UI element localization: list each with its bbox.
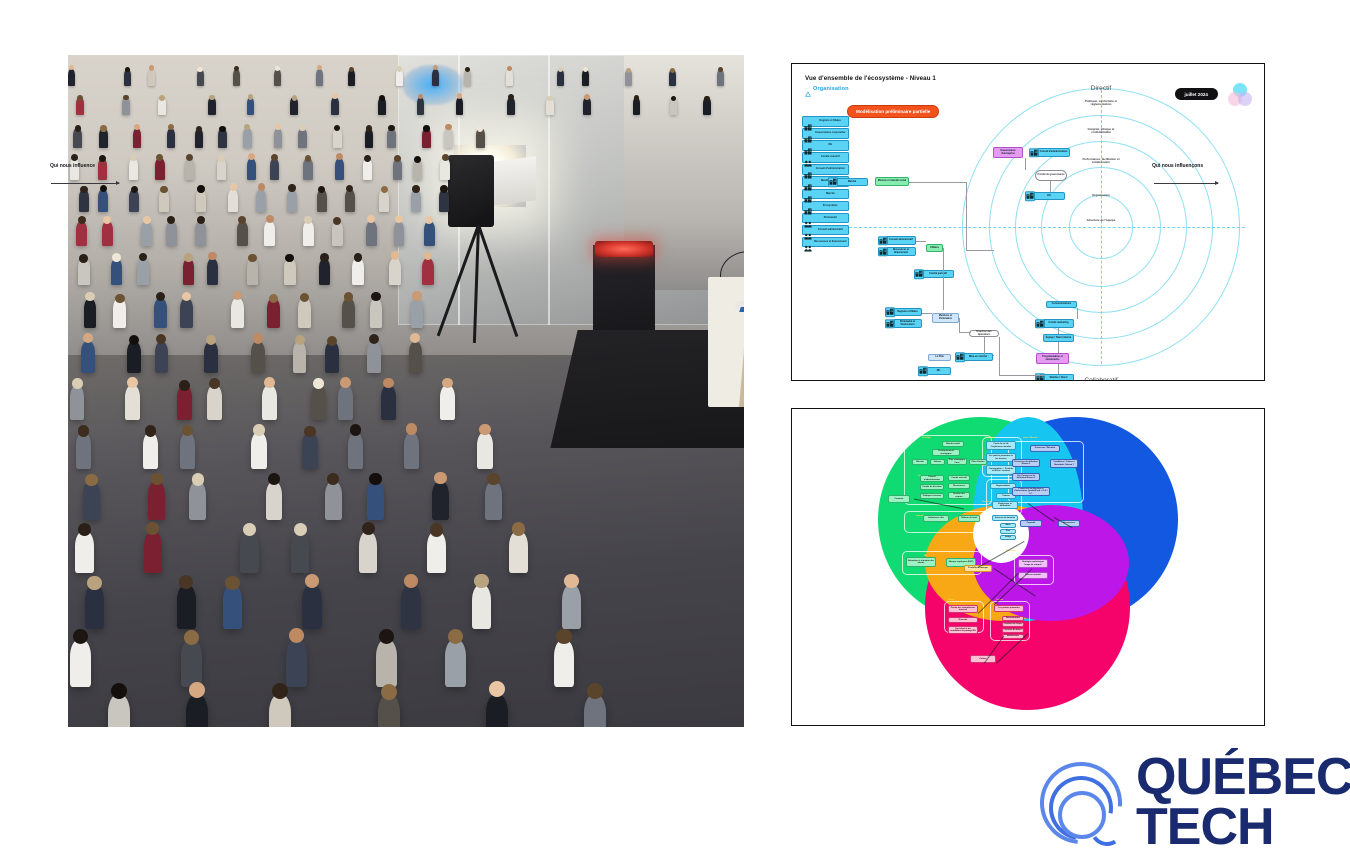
crowd-person-head — [457, 93, 463, 99]
crowd-person — [204, 341, 218, 373]
venn-node-28[interactable]: Processus de définition Niveau 1 — [1012, 459, 1040, 467]
venn-node-13[interactable]: Tableau de bord — [958, 515, 980, 522]
crowd-person-head — [127, 377, 138, 388]
ecosystem-node-label: Membre / Client — [1050, 377, 1068, 380]
venn-diagram: StratégieGouvernanceOpérationsRHProduitS… — [878, 417, 1178, 717]
crowd-person-head — [184, 253, 193, 262]
crowd-person — [228, 189, 238, 212]
connector-17 — [1058, 364, 1059, 374]
venn-node-label: Mise en marché — [1025, 574, 1041, 576]
crowd-person — [207, 385, 222, 419]
connector-0 — [909, 182, 967, 183]
crowd-person — [367, 481, 384, 520]
venn-node-5[interactable]: Plan d'action — [969, 459, 987, 465]
crowd-person-head — [285, 254, 294, 263]
crowd-person-head — [189, 682, 205, 698]
crowd-person — [70, 385, 85, 419]
crowd-person-head — [143, 216, 151, 224]
crowd-person-head — [304, 426, 316, 438]
crowd-person-head — [294, 523, 307, 536]
legend-item-0[interactable]: Registre et filiales — [802, 116, 849, 127]
connector-18 — [999, 337, 1000, 375]
crowd-person — [456, 97, 464, 115]
ecosystem-node-13[interactable]: Direction des Opérations — [969, 330, 999, 337]
crowd-person-head — [394, 155, 401, 162]
legend-item-8[interactable]: Partenariat — [802, 213, 849, 224]
panel-subtitle: Organisation — [813, 86, 849, 92]
crowd-person-head — [258, 183, 265, 190]
legend-item-6[interactable]: Marché — [802, 189, 849, 200]
legend-item-7[interactable]: Écosystème — [802, 201, 849, 212]
crowd-person-head — [626, 68, 631, 73]
crowd-person — [432, 481, 449, 520]
crowd-person — [266, 481, 283, 520]
venn-node-label: Top talent et les conditions de partage … — [950, 628, 976, 633]
crowd-person-head — [289, 628, 304, 643]
ecosystem-node-18[interactable]: Comité marketing — [1043, 319, 1074, 328]
people-icon — [804, 215, 812, 222]
venn-node-40[interactable]: Les parties prenantes — [994, 605, 1024, 612]
horizontal-axis — [834, 227, 1245, 228]
crowd-person — [154, 298, 167, 327]
crowd-person-head — [206, 335, 216, 345]
crowd-person-head — [160, 186, 167, 193]
crowd-person-head — [381, 684, 397, 700]
ecosystem-node-17[interactable]: Communications — [1046, 301, 1077, 308]
crowd-person-head — [115, 294, 124, 303]
crowd-person — [286, 639, 307, 687]
crowd-person-head — [391, 251, 400, 260]
crowd-person — [376, 639, 397, 687]
crowd-person — [274, 69, 281, 86]
crowd-person-head — [271, 154, 278, 161]
venn-node-label: Canaux — [1002, 495, 1010, 497]
crowd-person — [208, 97, 216, 115]
venn-node-7[interactable]: Comité exécutif — [948, 475, 970, 481]
venn-node-23[interactable]: Sources de données — [992, 515, 1018, 521]
venn-node-label: Comité de direction — [922, 486, 941, 488]
crowd-person — [409, 341, 423, 373]
camera-reflector — [492, 156, 536, 205]
crowd-person-head — [507, 66, 512, 71]
venn-node-43[interactable]: Gestion du talent — [1002, 628, 1024, 633]
crowd-person-head — [197, 216, 205, 224]
crowd-person — [427, 531, 445, 573]
video-camera — [448, 155, 494, 227]
ecosystem-node-7[interactable]: Ressources et financement — [886, 247, 916, 256]
crowd-person — [444, 128, 453, 148]
ecosystem-node-2[interactable]: Gouvernance d'entreprise — [993, 147, 1023, 158]
crowd-person-head — [547, 96, 553, 102]
venn-node-32[interactable]: Capacité — [1020, 520, 1042, 527]
ecosystem-node-15[interactable]: Mise en marché — [963, 353, 993, 361]
ecosystem-node-label: Mise en marché — [969, 356, 987, 359]
crowd-person — [472, 584, 492, 629]
crowd-person — [445, 639, 466, 687]
legend-item-4[interactable]: Conseil d'administration — [802, 164, 849, 175]
crowd-person — [137, 258, 149, 285]
crowd-person — [143, 432, 159, 469]
ecosystem-node-label: Conseil administratif — [889, 239, 913, 242]
connector-4 — [1050, 181, 1051, 192]
crowd-person — [335, 158, 344, 180]
crowd-person — [127, 341, 141, 373]
venn-node-26[interactable]: Usage — [1000, 535, 1016, 540]
building-icon — [828, 177, 838, 187]
crowd-person — [133, 128, 142, 148]
crowd-person-head — [197, 185, 204, 192]
crowd-person-head — [73, 629, 88, 644]
venn-node-label: Expérience et tarification — [994, 503, 1016, 508]
people-icon — [804, 227, 812, 234]
crowd-person-head — [474, 574, 488, 588]
crowd-person-head — [186, 154, 193, 161]
camera-tripod — [438, 225, 518, 345]
connector-8 — [938, 274, 939, 275]
venn-node-10[interactable]: Politiques internes — [920, 493, 944, 499]
crowd-person — [68, 69, 75, 86]
crowd-person — [389, 258, 401, 285]
crowd-person — [422, 258, 434, 285]
venn-node-label: Conseil d'administration — [922, 476, 942, 481]
venn-node-label: Cartographie — Produits et offres / serv… — [988, 468, 1014, 473]
crowd-person — [85, 584, 105, 629]
venn-node-3[interactable]: Valeurs — [930, 459, 945, 465]
legend-item-1[interactable]: Gouvernance corporative — [802, 128, 849, 139]
crowd-person-head — [369, 473, 381, 485]
crowd-person — [223, 584, 243, 629]
crowd-person — [342, 298, 355, 327]
ecosystem-node-3[interactable]: Conseil d'administration — [1037, 148, 1070, 157]
ring-label-3: Organisation — [1079, 194, 1123, 197]
connector-6 — [943, 248, 944, 274]
crowd-person — [251, 432, 267, 469]
crowd-person — [256, 189, 266, 212]
crowd-person-head — [350, 424, 362, 436]
crowd-person — [311, 385, 326, 419]
legend-item-label: Conseil d'administration — [814, 168, 848, 171]
crowd-person — [144, 531, 162, 573]
crowd-person-head — [305, 155, 312, 162]
venn-node-label: Rémunération — [1006, 617, 1020, 619]
venn-node-27[interactable]: Processus / Résultat — [1030, 445, 1060, 452]
crowd-person — [440, 385, 455, 419]
venn-node-label: Portée des compétences internes — [950, 607, 976, 612]
crowd-person-head — [253, 424, 265, 436]
building-icon — [804, 142, 812, 149]
crowd-person — [424, 221, 435, 246]
venn-node-24[interactable]: Base — [1000, 523, 1016, 528]
crowd-person — [166, 221, 177, 246]
crowd-person-head — [412, 185, 419, 192]
crowd-person — [75, 531, 93, 573]
crowd-person-head — [87, 576, 101, 590]
venn-node-9[interactable]: Ressources — [948, 483, 970, 489]
venn-panel: StratégieGouvernanceOpérationsRHProduitS… — [791, 408, 1265, 726]
crowd-person-head — [556, 629, 571, 644]
crowd-person-head — [197, 67, 202, 72]
venn-group-label-6: Données — [982, 501, 991, 503]
crowd-person — [303, 221, 314, 246]
venn-node-45[interactable]: Culture — [970, 655, 996, 663]
ecosystem-node-8[interactable]: Affaires — [926, 244, 943, 252]
crowd-person — [251, 341, 265, 373]
crowd-person-head — [371, 292, 380, 301]
venn-node-label: Ressources — [953, 485, 965, 487]
crowd-person-head — [292, 95, 298, 101]
building-icon — [1025, 191, 1035, 201]
crowd-person-head — [85, 292, 94, 301]
crowd-person-head — [151, 473, 163, 485]
crowd-person-head — [218, 155, 225, 162]
people-icon — [804, 154, 812, 161]
crowd-person — [366, 221, 377, 246]
venn-node-label: Gestion du talent — [1005, 629, 1022, 631]
ecosystem-node-21[interactable]: Membre / Client — [1043, 374, 1074, 381]
venn-node-29[interactable]: Conditions / Critères / Standards, Nivea… — [1050, 459, 1078, 468]
crowd-person-head — [508, 94, 514, 100]
crowd-person-head — [80, 186, 87, 193]
ecosystem-node-6[interactable]: Conseil administratif — [886, 236, 916, 245]
crowd-person — [338, 385, 353, 419]
venn-node-label: Processus de décision et d'information Q… — [1014, 488, 1048, 495]
ecosystem-node-label: Équipe / Talent interne — [1046, 337, 1071, 340]
crowd-person-head — [75, 125, 81, 131]
crowd-person — [486, 694, 508, 727]
ecosystem-node-19[interactable]: Équipe / Talent interne — [1043, 334, 1074, 342]
ecosystem-node-label: Comité de gouvernance — [1037, 174, 1064, 177]
crowd-person-head — [269, 294, 278, 303]
ecosystem-node-5[interactable]: RH — [1033, 192, 1065, 200]
ecosystem-node-12[interactable]: Membres et Partenaires — [932, 313, 959, 323]
venn-node-label: Indicateurs clés — [928, 517, 944, 519]
ecosystem-node-11[interactable]: Partenariat et financement — [893, 319, 922, 328]
crowd-person — [129, 158, 138, 180]
pole-label-top: Directif — [1091, 85, 1112, 92]
crowd-person-head — [448, 629, 463, 644]
venn-node-label: Portfolio de marque — [968, 567, 988, 569]
venn-node-label: Diversité — [959, 619, 968, 621]
crowd-person-head — [264, 377, 275, 388]
crowd-person — [293, 341, 307, 373]
legend-item-2[interactable]: RH — [802, 140, 849, 151]
crowd-person — [122, 97, 130, 115]
venn-node-37[interactable]: Portée des compétences internes — [948, 605, 978, 613]
ecosystem-node-label: Programmation et événements — [1038, 356, 1067, 361]
crowd-person — [141, 221, 152, 246]
building-icon — [804, 118, 812, 125]
venn-node-41[interactable]: Rémunération — [1002, 616, 1024, 621]
connector-12 — [984, 337, 985, 355]
legend-item-3[interactable]: Comité exécutif — [802, 152, 849, 163]
crowd-person — [76, 221, 87, 246]
crowd-person — [370, 298, 383, 327]
ecosystem-radial-panel: Vue d'ensemble de l'écosystème - Niveau … — [791, 63, 1265, 381]
panel-title: Vue d'ensemble de l'écosystème - Niveau … — [805, 75, 936, 82]
building-icon — [1035, 319, 1045, 329]
connector-14 — [1077, 308, 1078, 319]
venn-node-label: Comité exécutif — [951, 477, 966, 479]
crowd-person-head — [134, 124, 140, 130]
legend-item-label: Écosystème — [814, 205, 848, 208]
crowd-person-head — [395, 215, 403, 223]
venn-node-15[interactable]: Attraction et rétention des talents — [906, 557, 936, 567]
venn-node-label: Les parties prenantes — [998, 607, 1019, 609]
venn-node-label: Mission — [916, 461, 924, 463]
venn-node-25[interactable]: Flux — [1000, 529, 1016, 534]
building-icon — [804, 166, 812, 173]
ecosystem-node-4[interactable]: Comité de gouvernance — [1035, 170, 1067, 181]
venn-node-label: Valeurs — [934, 461, 941, 463]
crowd-person-head — [288, 184, 295, 191]
crowd-person-head — [299, 125, 305, 131]
venn-node-31[interactable]: Processus de décision et d'information Q… — [1012, 487, 1050, 496]
crowd-person-head — [219, 126, 225, 132]
ecosystem-node-label: Direction des Opérations — [971, 331, 997, 336]
legend-item-label: Gouvernance corporative — [814, 132, 848, 135]
pole-label-bottom: Collaboratif — [1084, 377, 1117, 381]
venn-node-22[interactable]: Expérience et tarification — [992, 501, 1018, 509]
quebec-tech-logo: QUÉBEC TECH — [1036, 752, 1326, 850]
building-icon — [918, 366, 928, 376]
ecosystem-node-label: Le Pôle — [935, 356, 944, 359]
venn-node-label: Processus / Résultat — [1035, 447, 1055, 449]
crowd-person-head — [440, 185, 447, 192]
ecosystem-node-label: Mission et mandat social — [878, 180, 906, 183]
ecosystem-node-0[interactable]: Marché — [836, 178, 868, 186]
venn-node-30[interactable]: Cat. Processus de définition Niveau 2 — [1012, 473, 1040, 481]
crowd-person — [195, 221, 206, 246]
crowd-person — [207, 258, 219, 285]
crowd-person-head — [434, 472, 446, 484]
crowd-person-head — [414, 156, 421, 163]
connector-9 — [922, 313, 932, 314]
ecosystem-node-1[interactable]: Mission et mandat social — [875, 177, 909, 186]
building-icon — [914, 269, 924, 279]
connector-16 — [1058, 342, 1059, 353]
ecosystem-node-label: Ressources et financement — [888, 249, 914, 254]
crowd-person — [411, 298, 424, 327]
legend-item-label: RH — [814, 144, 848, 147]
building-icon — [804, 202, 812, 209]
crowd-person-head — [253, 333, 263, 343]
crowd-person-head — [487, 473, 499, 485]
ecosystem-node-label: Partenariat et financement — [895, 321, 920, 326]
venn-node-4[interactable]: Plan stratégique 3 ans — [947, 458, 967, 465]
venn-node-0[interactable]: Mandat social — [942, 441, 964, 447]
ecosystem-node-label: Affaires — [930, 247, 939, 250]
venn-node-8[interactable]: Comité de direction — [920, 484, 944, 490]
crowd-person-head — [344, 292, 353, 301]
legend-item-label: Marché — [814, 193, 848, 196]
crowd-person — [319, 258, 331, 285]
crowd-person — [583, 97, 591, 115]
venn-node-39[interactable]: Top talent et les conditions de partage … — [948, 626, 978, 634]
crowd-person-head — [71, 154, 78, 161]
ecosystem-node-20[interactable]: Programmation et événements — [1036, 353, 1069, 364]
connector-11 — [959, 332, 971, 333]
event-photo — [68, 55, 744, 727]
venn-node-label: Usage — [1005, 536, 1011, 538]
crowd-person — [70, 639, 91, 687]
venn-node-label: Processus de définition Niveau 1 — [1014, 461, 1038, 466]
crowd-person — [177, 584, 197, 629]
ring-label-4: Structure de l'équipe — [1079, 219, 1123, 222]
ecosystem-node-16[interactable]: RH — [926, 367, 951, 375]
crowd-person-head — [383, 378, 394, 389]
venn-node-label: Flux — [1006, 530, 1010, 532]
venn-node-label: Attraction et rétention des talents — [908, 560, 934, 565]
crowd-person — [325, 481, 342, 520]
crowd-person — [401, 584, 421, 629]
crowd-person-head — [248, 254, 257, 263]
venn-node-2[interactable]: Mission — [912, 459, 928, 465]
ecosystem-node-14[interactable]: Le Pôle — [928, 354, 951, 361]
brand-line-2: TECH — [1136, 802, 1350, 852]
crowd-person-head — [634, 95, 640, 101]
crowd-person-head — [295, 335, 305, 345]
building-icon — [885, 319, 895, 329]
crowd-person — [274, 128, 283, 148]
speaker-podium — [708, 277, 744, 407]
venn-node-17[interactable]: Cycle de vie de l'expérience membre — [986, 441, 1016, 450]
crowd-person-head — [230, 183, 237, 190]
venn-node-label: Stratégie marketing et Image de marque — [1020, 561, 1046, 566]
venn-node-label: Les parties prenantes et les besoins — [988, 455, 1014, 460]
crowd-person — [76, 432, 92, 469]
venn-group-label-7: Vente / Marché — [1023, 437, 1038, 439]
legend-item-10[interactable]: Ressources et financement — [802, 237, 849, 248]
crowd-person — [302, 432, 318, 469]
crowd-person-head — [209, 378, 220, 389]
venn-node-label: Marque employeur (EVP) — [949, 561, 974, 563]
crowd-person — [287, 189, 297, 212]
crowd-person — [155, 341, 169, 373]
status-badge: Modélisation préliminaire partielle — [847, 105, 939, 118]
venn-node-6[interactable]: Conseil d'administration — [920, 475, 944, 482]
connector-13 — [993, 355, 994, 356]
flow-arrow-left — [51, 183, 119, 184]
legend-item-label: Registre et filiales — [814, 120, 848, 123]
venn-node-35[interactable]: Stratégie marketing et Image de marque — [1018, 559, 1048, 568]
crowd-person-head — [445, 124, 451, 130]
venn-node-label: Base — [1006, 524, 1011, 526]
crowd-person — [243, 128, 252, 148]
venn-node-label: Cat. Processus de définition Niveau 2 — [1014, 475, 1038, 480]
venn-node-label: Conditions / Critères / Standards, Nivea… — [1052, 461, 1076, 466]
building-icon — [878, 247, 888, 257]
venn-node-label: Gestion des risques — [950, 493, 968, 498]
venn-node-38[interactable]: Diversité — [948, 617, 978, 623]
legend-item-label: Partenariat — [814, 217, 848, 220]
ecosystem-node-10[interactable]: Registre et filiales — [893, 308, 922, 316]
venn-node-12[interactable]: Indicateurs clés — [923, 515, 949, 522]
crowd-person-head — [354, 253, 363, 262]
crowd-person-head — [313, 378, 324, 389]
quebec-tech-spiral-icon — [1036, 758, 1120, 842]
venn-node-14[interactable]: Contexte — [888, 495, 910, 503]
connector-7 — [943, 274, 944, 310]
venn-node-11[interactable]: Gestion des risques — [948, 492, 970, 499]
crowd-person — [98, 189, 108, 212]
venn-node-1[interactable]: Positionnement stratégique — [932, 449, 960, 456]
venn-node-42[interactable]: Gestion du risque — [1002, 622, 1024, 627]
crowd-person — [148, 481, 165, 520]
crowd-person — [507, 97, 515, 115]
building-icon — [878, 236, 888, 246]
venn-node-label: Sources de données — [995, 517, 1015, 519]
connector-5 — [916, 241, 926, 242]
